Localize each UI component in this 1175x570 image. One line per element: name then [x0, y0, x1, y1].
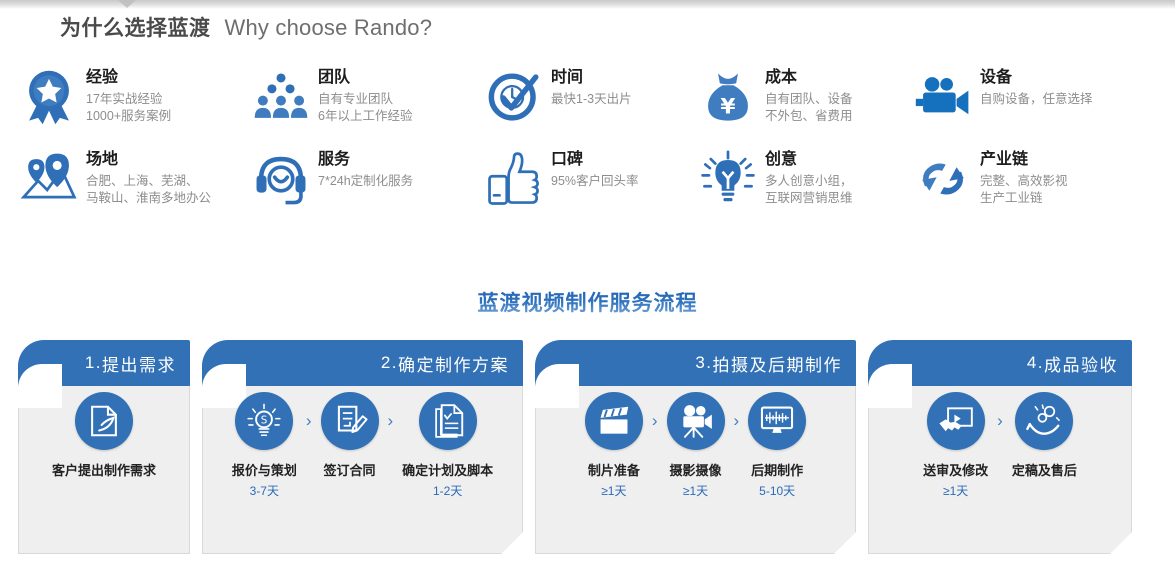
money-bag-icon: ¥ [697, 66, 759, 128]
feature-title: 成本 [765, 68, 853, 88]
feature-title: 团队 [318, 68, 412, 88]
process-card-number: 4. [1027, 353, 1044, 373]
clapperboard-icon [585, 392, 643, 450]
chevron-right-icon: › [734, 392, 740, 450]
contract-sign-icon [321, 392, 379, 450]
process-card-2: 2.确定制作方案 [202, 340, 523, 554]
process-step-label: 签订合同 [323, 460, 375, 479]
chevron-right-icon: › [652, 392, 658, 450]
feature-item-equipment: 设备 自购设备，任意选择 [912, 66, 1162, 128]
feature-desc-line-1: 自购设备，任意选择 [980, 91, 1093, 108]
process-step-label: 摄影摄像 [669, 460, 721, 479]
feature-item-experience: 经验 17年实战经验 1000+服务案例 [18, 66, 250, 128]
process-card-name: 成品验收 [1044, 351, 1118, 376]
feature-text: 口碑 95%客户回头率 [551, 148, 639, 190]
hand-coins-icon [1015, 392, 1073, 450]
feature-text: 创意 多人创意小组， 互联网营销思维 [765, 148, 853, 207]
process-card-name: 拍摄及后期制作 [713, 351, 843, 376]
feature-desc-line-1: 自有团队、设备 [765, 91, 853, 108]
process-card-3: 3.拍摄及后期制作 [535, 340, 856, 554]
process-step-label: 制片准备 [588, 460, 640, 479]
svg-text:¥: ¥ [720, 94, 735, 119]
process-cards: 1.提出需求 客户提出制作需求 [18, 340, 1132, 554]
process-card-number: 3. [695, 353, 712, 373]
process-card-name: 确定制作方案 [398, 351, 509, 376]
chevron-right-icon: › [306, 392, 312, 450]
feature-text: 设备 自购设备，任意选择 [980, 66, 1093, 108]
feature-grid: 经验 17年实战经验 1000+服务案例 [18, 66, 1168, 210]
team-icon [250, 66, 312, 128]
handshake-screen-icon [927, 392, 985, 450]
feature-row-1: 经验 17年实战经验 1000+服务案例 [18, 66, 1168, 128]
process-step-list: 客户提出制作需求 [18, 392, 190, 497]
process-step-days: 3-7天 [250, 482, 279, 499]
chevron-right-icon: › [388, 392, 394, 450]
feature-desc-line-2: 互联网营销思维 [765, 190, 853, 207]
feature-text: 经验 17年实战经验 1000+服务案例 [86, 66, 171, 125]
feature-text: 成本 自有团队、设备 不外包、省费用 [765, 66, 853, 125]
process-step-days: ≥1天 [683, 482, 708, 499]
process-step-label: 送审及修改 [923, 460, 988, 479]
feature-desc-line-2: 生产工业链 [980, 190, 1068, 207]
process-card-number: 1. [85, 353, 102, 373]
feature-item-venue: 场地 合肥、上海、芜湖、 马鞍山、淮南多地办公 [18, 148, 250, 210]
feature-item-creativity: 创意 多人创意小组， 互联网营销思维 [697, 148, 912, 210]
process-card-header: 2.确定制作方案 [202, 340, 523, 386]
feature-desc-line-1: 17年实战经验 [86, 91, 171, 108]
feature-desc-line-2: 马鞍山、淮南多地办公 [86, 190, 211, 207]
page-title-en: Why choose Rando? [225, 15, 433, 41]
feature-title: 口碑 [551, 150, 639, 170]
process-step-days: 5-10天 [759, 482, 795, 499]
process-step[interactable]: 确定计划及脚本 1-2天 [402, 392, 493, 499]
feature-title: 服务 [318, 150, 413, 170]
process-card-4: 4.成品验收 送审及修改 ≥1天 › [868, 340, 1132, 554]
process-step-label: 定稿及售后 [1012, 460, 1077, 479]
process-step-days: 1-2天 [433, 482, 462, 499]
process-step-days: ≥1天 [601, 482, 626, 499]
process-step[interactable]: 签订合同 [321, 392, 379, 497]
medal-icon [18, 66, 80, 128]
feature-text: 服务 7*24h定制化服务 [318, 148, 413, 190]
recycle-icon [912, 148, 974, 210]
document-pen-icon [75, 392, 133, 450]
feature-desc-line-2: 不外包、省费用 [765, 108, 853, 125]
feature-desc-line-2: 6年以上工作经验 [318, 108, 412, 125]
process-step-list: 制片准备 ≥1天 › 摄影摄像 ≥1天 [535, 392, 856, 499]
process-step[interactable]: 摄影摄像 ≥1天 [667, 392, 725, 499]
feature-row-2: 场地 合肥、上海、芜湖、 马鞍山、淮南多地办公 [18, 148, 1168, 210]
process-step-label: 报价与策划 [232, 460, 297, 479]
process-card-header: 3.拍摄及后期制作 [535, 340, 856, 386]
movie-camera-icon [667, 392, 725, 450]
process-step-label: 后期制作 [751, 460, 803, 479]
why-choose-section: 为什么选择蓝渡 Why choose Rando? 经验 17年实战经验 [0, 0, 1175, 570]
process-card-1: 1.提出需求 客户提出制作需求 [18, 340, 190, 554]
process-step[interactable]: 定稿及售后 [1012, 392, 1077, 497]
page-title-cn: 为什么选择蓝渡 [60, 12, 211, 42]
process-step-label: 确定计划及脚本 [402, 460, 493, 479]
top-gradient-band [0, 0, 1175, 9]
feature-desc-line-1: 最快1-3天出片 [551, 91, 632, 108]
feature-desc-line-1: 自有专业团队 [318, 91, 412, 108]
feature-title: 创意 [765, 150, 853, 170]
feature-text: 产业链 完整、高效影视 生产工业链 [980, 148, 1068, 207]
video-camera-icon [912, 66, 974, 128]
process-section-title: 蓝渡视频制作服务流程 [0, 287, 1175, 317]
feature-title: 经验 [86, 68, 171, 88]
clock-check-icon [483, 66, 545, 128]
map-pin-icon [18, 148, 80, 210]
process-step[interactable]: 送审及修改 ≥1天 [923, 392, 988, 499]
feature-item-time: 时间 最快1-3天出片 [483, 66, 697, 128]
feature-title: 时间 [551, 68, 632, 88]
feature-item-reputation: 口碑 95%客户回头率 [483, 148, 697, 210]
feature-item-team: 团队 自有专业团队 6年以上工作经验 [250, 66, 483, 128]
feature-title: 设备 [980, 68, 1093, 88]
feature-text: 团队 自有专业团队 6年以上工作经验 [318, 66, 412, 125]
svg-text:S: S [261, 414, 268, 426]
edit-monitor-icon [748, 392, 806, 450]
process-step[interactable]: 后期制作 5-10天 [748, 392, 806, 499]
feature-desc-line-1: 完整、高效影视 [980, 173, 1068, 190]
feature-item-cost: ¥ 成本 自有团队、设备 不外包、省费用 [697, 66, 912, 128]
script-docs-icon [419, 392, 477, 450]
process-step[interactable]: 客户提出制作需求 [52, 392, 156, 497]
feature-desc-line-1: 合肥、上海、芜湖、 [86, 173, 211, 190]
feature-title: 产业链 [980, 150, 1068, 170]
idea-money-icon: S [235, 392, 293, 450]
process-step-days: ≥1天 [943, 482, 968, 499]
process-card-name: 提出需求 [102, 351, 176, 376]
feature-item-industry-chain: 产业链 完整、高效影视 生产工业链 [912, 148, 1162, 210]
headset-icon [250, 148, 312, 210]
feature-title: 场地 [86, 150, 211, 170]
process-step-list: S 报价与策划 3-7天 › [202, 392, 523, 499]
feature-desc-line-1: 7*24h定制化服务 [318, 173, 413, 190]
feature-desc-line-1: 95%客户回头率 [551, 173, 639, 190]
lightbulb-icon [697, 148, 759, 210]
feature-desc-line-2: 1000+服务案例 [86, 108, 171, 125]
process-step-list: 送审及修改 ≥1天 › [868, 392, 1132, 499]
process-step[interactable]: 制片准备 ≥1天 [585, 392, 643, 499]
feature-desc-line-1: 多人创意小组， [765, 173, 853, 190]
process-card-number: 2. [381, 353, 398, 373]
process-step-label: 客户提出制作需求 [52, 460, 156, 479]
triangle-notch-icon [118, 0, 136, 8]
process-step[interactable]: S 报价与策划 3-7天 [232, 392, 297, 499]
chevron-right-icon: › [997, 392, 1003, 450]
feature-item-service: 服务 7*24h定制化服务 [250, 148, 483, 210]
thumbs-up-icon [483, 148, 545, 210]
feature-text: 场地 合肥、上海、芜湖、 马鞍山、淮南多地办公 [86, 148, 211, 207]
page-title: 为什么选择蓝渡 Why choose Rando? [60, 12, 432, 42]
feature-text: 时间 最快1-3天出片 [551, 66, 632, 108]
